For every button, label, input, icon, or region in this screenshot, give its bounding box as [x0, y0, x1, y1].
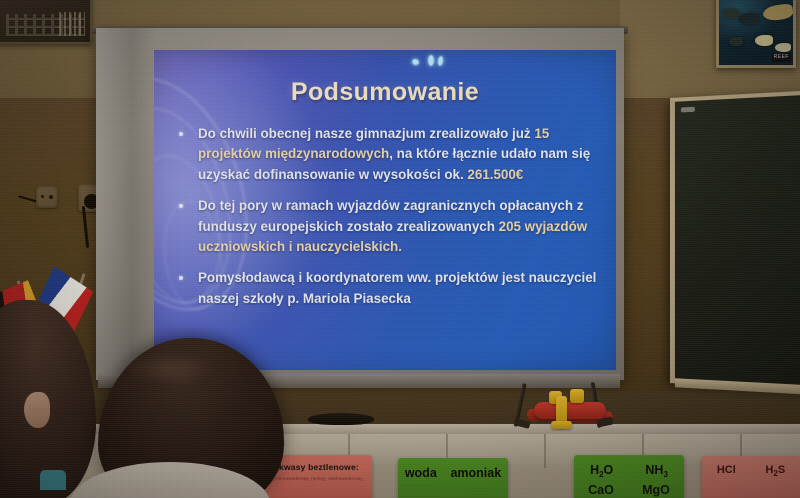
chemistry-card-acids: kwasy beztlenowe: chlorowodorowy (solny)… [266, 455, 372, 498]
slide-bullet-3: Pomysłodawcą i koordynatorem ww. projekt… [172, 268, 602, 309]
bench-seam [544, 434, 546, 468]
projection-screen: Podsumowanie Do chwili obecnej nasze gim… [96, 28, 624, 380]
chemistry-card-formulas-oxides: H2O NH3 CaO MgO [574, 455, 684, 498]
fish-icon [729, 37, 743, 46]
bullet-highlight-text: 261.500€ [467, 167, 523, 182]
card-row-2: CaO MgO [574, 477, 684, 497]
card-row-1: woda amoniak [398, 458, 508, 480]
card-cell: H2S [765, 464, 785, 476]
card-cell: HCl [717, 464, 736, 476]
lab-clamp [534, 402, 606, 419]
slide-bullet-list: Do chwili obecnej nasze gimnazjum zreali… [172, 124, 602, 320]
sparkle-icon [428, 55, 434, 66]
fish-icon [755, 35, 773, 46]
underwater-fish-poster: REEF [716, 0, 796, 68]
foreground-object [40, 470, 66, 490]
card-cell: woda [405, 466, 437, 480]
card-cell: CaO [588, 483, 614, 497]
card-row-1: HCl H2S [702, 456, 800, 476]
slide-bullet-1: Do chwili obecnej nasze gimnazjum zreali… [172, 124, 602, 185]
fish-icon [775, 43, 791, 52]
presentation-slide: Podsumowanie Do chwili obecnej nasze gim… [154, 50, 616, 370]
chemistry-card-formulas-acids: HCl H2S [702, 456, 800, 498]
card-cell: NH3 [645, 463, 668, 477]
card-cell: H2O [590, 463, 613, 477]
card-cell: MgO [642, 483, 670, 497]
chalkboard [670, 91, 800, 391]
wall-socket-left [36, 186, 58, 208]
wall-display-panel [0, 0, 92, 44]
clamp-base [551, 421, 572, 429]
hair-highlight [126, 352, 216, 386]
bullet-text: Pomysłodawcą i koordynatorem ww. projekt… [198, 270, 596, 305]
slide-bullet-2: Do tej pory w ramach wyjazdów zagraniczn… [172, 196, 602, 257]
clamp-knob[interactable] [570, 389, 584, 403]
card-row-1: H2O NH3 [574, 455, 684, 477]
sparkle-icon [437, 56, 443, 67]
screen-fabric-fold [96, 28, 156, 380]
fish-icon [739, 13, 759, 25]
lab-dish [308, 413, 374, 425]
ear [24, 392, 50, 428]
slide-top-sparkles [412, 54, 452, 72]
chemistry-card-names: woda amoniak [398, 458, 508, 498]
classroom-photo-scene: REEF Podsumowanie Do chwili obecnej nasz… [0, 0, 800, 498]
panel-side-marks [59, 12, 85, 36]
poster-caption: REEF [772, 53, 791, 62]
socket-hole-icon [49, 195, 53, 199]
slide-title: Podsumowanie [154, 78, 616, 107]
bullet-text: Do chwili obecnej nasze gimnazjum zreali… [198, 126, 534, 141]
sparkle-icon [411, 58, 420, 66]
chalk-piece [681, 107, 695, 113]
card-cell: amoniak [450, 466, 501, 480]
fish-icon [723, 9, 739, 19]
card-subtext: chlorowodorowy (solny), siarkowodorowy [266, 472, 372, 481]
socket-hole-icon [41, 195, 44, 198]
